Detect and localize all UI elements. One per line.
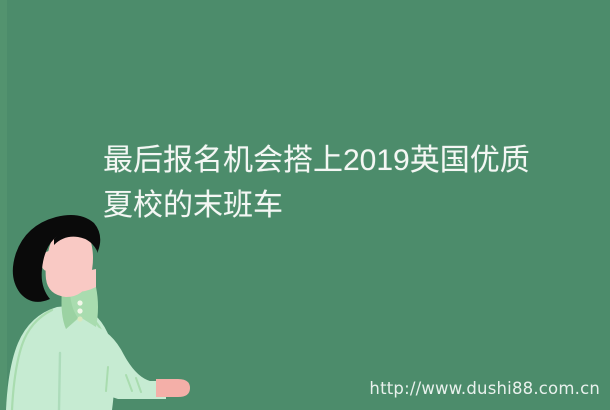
hand-shape [156, 379, 190, 397]
watermark-url: http://www.dushi88.com.cn [369, 380, 600, 398]
collar-button-2 [77, 308, 82, 313]
torso-fold [59, 353, 60, 410]
page-title: 最后报名机会搭上2019英国优质夏校的末班车 [103, 138, 558, 228]
face-shape [46, 232, 93, 297]
arm-shape [88, 325, 166, 399]
collar-button-1 [77, 300, 82, 305]
cover-image: 最后报名机会搭上2019英国优质夏校的末班车 http://www.dushi8… [0, 0, 610, 410]
collar-button-3 [77, 316, 82, 321]
